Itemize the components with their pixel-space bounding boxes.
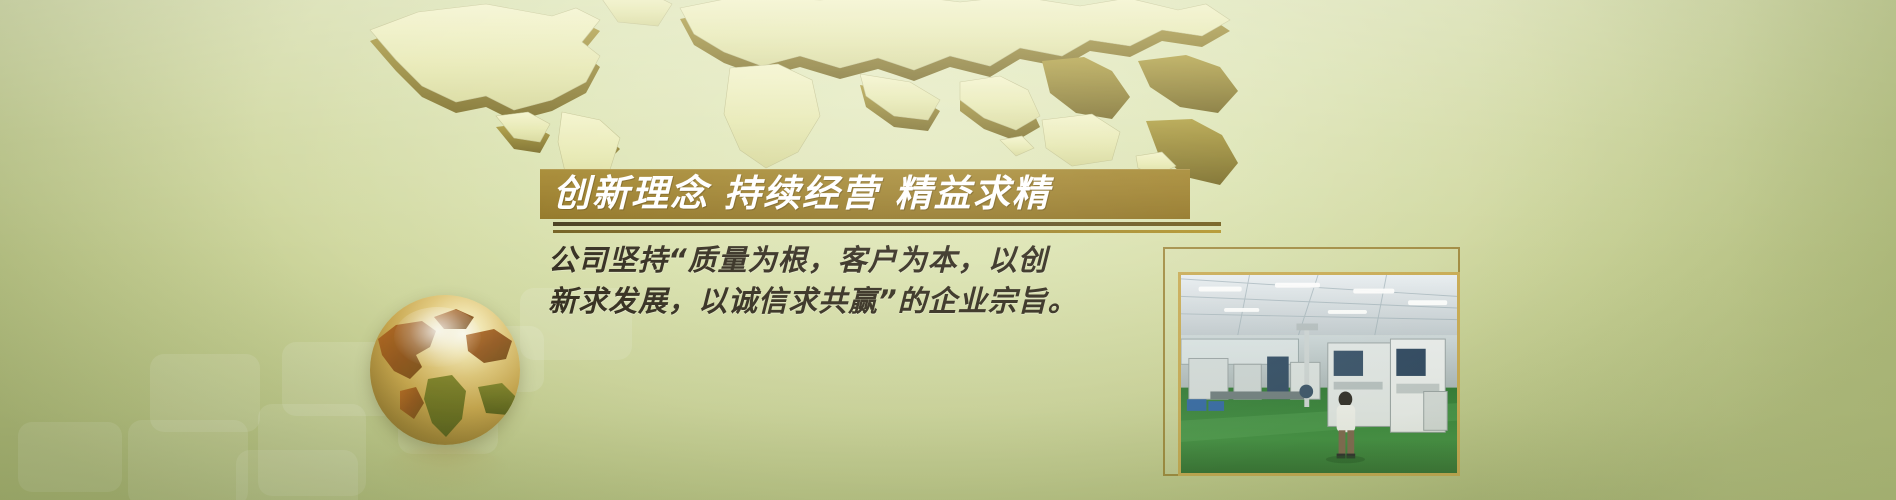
headline-rule-thick xyxy=(553,222,1221,226)
globe-sphere xyxy=(370,295,520,445)
headline-rule-thin xyxy=(553,230,1221,233)
globe-reflection xyxy=(384,447,506,489)
quote-line-2: 新求发展，以诚信求共赢”的企业宗旨。 xyxy=(548,281,1168,322)
globe-graphic xyxy=(370,295,525,485)
company-motto-quote: 公司坚持“质量为根，客户为本，以创 新求发展，以诚信求共赢”的企业宗旨。 xyxy=(548,240,1168,322)
banner-headline: 创新理念 持续经营 精益求精 xyxy=(553,168,1193,220)
company-culture-banner: 创新理念 持续经营 精益求精 公司坚持“质量为根，客户为本，以创 新求发展，以诚… xyxy=(0,0,1896,500)
quote-line-1: 公司坚持“质量为根，客户为本，以创 xyxy=(548,240,1168,281)
factory-photo xyxy=(1181,275,1457,473)
photo-frame-inner xyxy=(1178,272,1460,476)
right-edge-fade xyxy=(1476,0,1896,500)
